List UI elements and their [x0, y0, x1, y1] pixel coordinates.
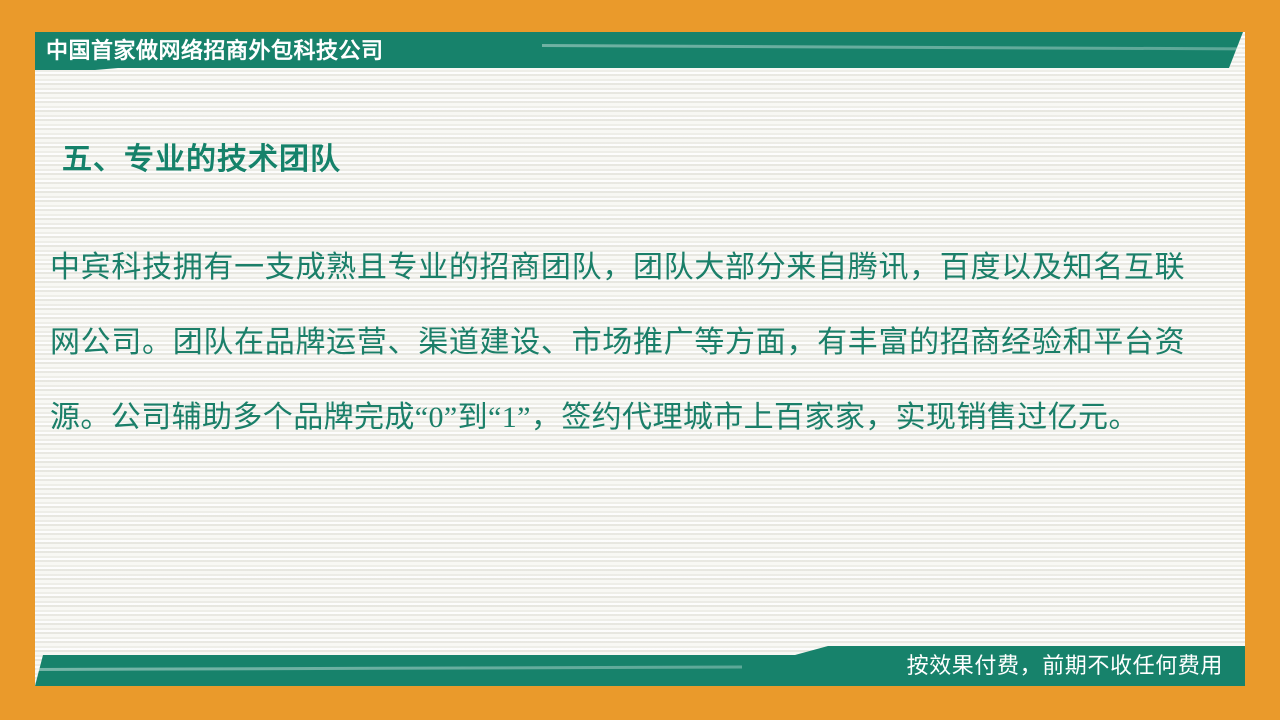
frame-edge-left [0, 0, 35, 720]
frame-edge-top [0, 0, 1280, 32]
frame-edge-right [1245, 0, 1280, 720]
frame-edge-bottom [0, 686, 1280, 720]
page-title: 五、专业的技术团队 [62, 134, 341, 178]
slide-canvas: 中国首家做网络招商外包科技公司 五、专业的技术团队 中宾科技拥有一支成熟且专业的… [0, 0, 1280, 720]
body-paragraph: 中宾科技拥有一支成熟且专业的招商团队，团队大部分来自腾讯，百度以及知名互联网公司… [50, 230, 1185, 455]
body-paragraph-block: 中宾科技拥有一支成熟且专业的招商团队，团队大部分来自腾讯，百度以及知名互联网公司… [50, 230, 1185, 455]
footer-tagline: 按效果付费，前期不收任何费用 [907, 646, 1223, 686]
header-banner-title: 中国首家做网络招商外包科技公司 [46, 34, 384, 68]
